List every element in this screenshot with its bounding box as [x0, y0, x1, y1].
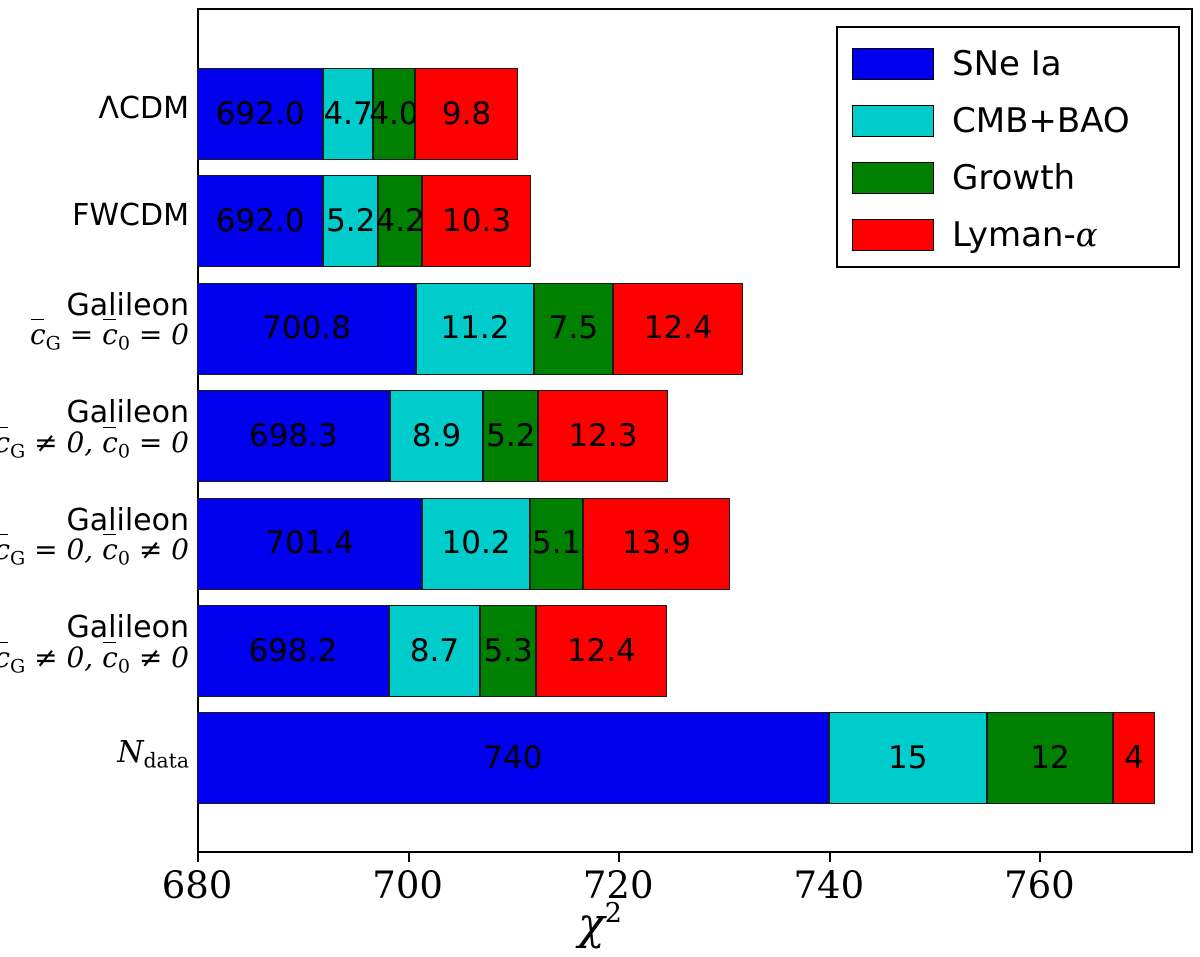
bar-segment-sne-ia: 692.0 [197, 175, 323, 267]
bar-segment-value: 4.2 [376, 206, 425, 237]
bar-segment-value: 692.0 [216, 206, 305, 237]
bar-segment-value: 9.8 [442, 99, 491, 130]
legend: SNe IaCMB+BAOGrowthLyman-α [836, 26, 1180, 268]
y-tick-label-line1: Galileon [0, 613, 189, 644]
legend-entry-3: Lyman-α [852, 209, 1164, 261]
y-tick-label-line1: ΛCDM [99, 94, 189, 125]
bar-segment-lyman: 9.8 [415, 68, 518, 160]
legend-swatch [852, 105, 934, 137]
bar-segment-value: 740 [483, 743, 542, 774]
bar-segment-cmb-bao: 4.7 [323, 68, 372, 160]
bar-segment-value: 12.3 [568, 421, 637, 452]
y-tick-label-line2: cG = c0 = 0 [30, 321, 189, 354]
y-tick-label-4: GalileoncG = 0, c0 ≠ 0 [0, 506, 189, 569]
y-tick-label-5: GalileoncG ≠ 0, c0 ≠ 0 [0, 613, 189, 676]
bar-segment-cmb-bao: 5.2 [323, 175, 378, 267]
x-tick-mark [829, 853, 831, 862]
bar-segment-value: 13.9 [622, 528, 691, 559]
x-tick-mark [408, 853, 410, 862]
bar-segment-value: 12.4 [644, 313, 713, 344]
legend-entry-2: Growth [852, 152, 1164, 204]
bar-segment-growth: 5.2 [483, 390, 538, 482]
bar-segment-lyman: 12.3 [538, 390, 668, 482]
y-tick-label-0: ΛCDM [99, 94, 189, 125]
bar-segment-value: 5.3 [483, 636, 532, 667]
legend-swatch [852, 162, 934, 194]
y-tick-label-line1: Galileon [0, 506, 189, 537]
x-tick-mark [1039, 853, 1041, 862]
bar-segment-value: 5.2 [326, 206, 375, 237]
bar-segment-lyman: 10.3 [422, 175, 530, 267]
bar-segment-growth: 4.2 [378, 175, 422, 267]
y-tick-label-line1: FWCDM [72, 201, 189, 232]
y-tick-label-line2: cG ≠ 0, c0 ≠ 0 [0, 644, 189, 677]
x-tick-mark [197, 853, 199, 862]
y-tick-label-1: FWCDM [72, 201, 189, 232]
bar-segment-value: 698.3 [249, 421, 338, 452]
bar-segment-cmb-bao: 11.2 [416, 283, 534, 375]
bar-segment-growth: 7.5 [534, 283, 613, 375]
legend-label: Growth [952, 158, 1075, 198]
bar-segment-value: 698.2 [248, 636, 337, 667]
bar-segment-value: 8.9 [412, 421, 461, 452]
bar-segment-value: 701.4 [265, 528, 354, 559]
bar-segment-value: 12 [1030, 743, 1069, 774]
bar-segment-cmb-bao: 10.2 [422, 498, 529, 590]
bar-segment-lyman: 4 [1113, 712, 1155, 804]
bar-segment-value: 7.5 [549, 313, 598, 344]
y-tick-label-line1: Galileon [0, 398, 189, 429]
y-tick-label-line1: Ndata [117, 738, 189, 772]
bar-segment-value: 692.0 [216, 99, 305, 130]
bar-segment-value: 8.7 [410, 636, 459, 667]
bar-segment-lyman: 13.9 [583, 498, 729, 590]
bar-segment-value: 12.4 [567, 636, 636, 667]
legend-label-alpha-symbol: α [1076, 216, 1098, 254]
bar-segment-growth: 5.3 [480, 605, 536, 697]
bar-segment-value: 4.7 [323, 99, 372, 130]
bar-segment-growth: 5.1 [530, 498, 584, 590]
bar-segment-value: 10.2 [442, 528, 511, 559]
bar-segment-growth: 12 [987, 712, 1113, 804]
bar-segment-value: 10.3 [442, 206, 511, 237]
y-tick-label-3: GalileoncG ≠ 0, c0 = 0 [0, 398, 189, 461]
bar-segment-sne-ia: 740 [197, 712, 829, 804]
bar-segment-sne-ia: 701.4 [197, 498, 422, 590]
legend-swatch [852, 219, 934, 251]
bar-segment-value: 700.8 [262, 313, 351, 344]
x-axis-label-exponent: 2 [605, 898, 622, 929]
y-tick-label-6: Ndata [117, 738, 189, 772]
bar-segment-sne-ia: 700.8 [197, 283, 416, 375]
bar-segment-cmb-bao: 8.9 [390, 390, 484, 482]
y-tick-label-line2: cG = 0, c0 ≠ 0 [0, 536, 189, 569]
bar-segment-growth: 4.0 [373, 68, 415, 160]
bar-segment-value: 5.1 [532, 528, 581, 559]
bar-segment-value: 5.2 [486, 421, 535, 452]
bar-segment-lyman: 12.4 [613, 283, 744, 375]
legend-label: CMB+BAO [952, 101, 1130, 141]
y-tick-label-line2: cG ≠ 0, c0 = 0 [0, 429, 189, 462]
legend-label: Lyman-α [952, 215, 1098, 255]
x-tick-mark [618, 853, 620, 862]
chi-square-stacked-bar-figure: ΛCDMFWCDMGalileoncG = c0 = 0GalileoncG ≠… [0, 0, 1200, 957]
bar-segment-value: 11.2 [440, 313, 509, 344]
bar-segment-sne-ia: 698.2 [197, 605, 389, 697]
bar-segment-sne-ia: 692.0 [197, 68, 323, 160]
bar-segment-cmb-bao: 15 [829, 712, 987, 804]
legend-entry-0: SNe Ia [852, 38, 1164, 90]
bar-segment-value: 15 [888, 743, 927, 774]
bar-segment-lyman: 12.4 [536, 605, 667, 697]
bar-segment-sne-ia: 698.3 [197, 390, 390, 482]
y-tick-label-2: GalileoncG = c0 = 0 [30, 291, 189, 354]
x-axis-label: χ2 [0, 898, 1200, 950]
legend-entry-1: CMB+BAO [852, 95, 1164, 147]
bar-segment-cmb-bao: 8.7 [389, 605, 481, 697]
bar-segment-value: 4.0 [369, 99, 418, 130]
y-tick-label-line1: Galileon [30, 291, 189, 322]
legend-label-text: Lyman- [952, 215, 1076, 255]
legend-swatch [852, 48, 934, 80]
legend-label: SNe Ia [952, 44, 1062, 84]
x-axis-label-base: χ [578, 899, 605, 950]
bar-segment-value: 4 [1124, 743, 1144, 774]
